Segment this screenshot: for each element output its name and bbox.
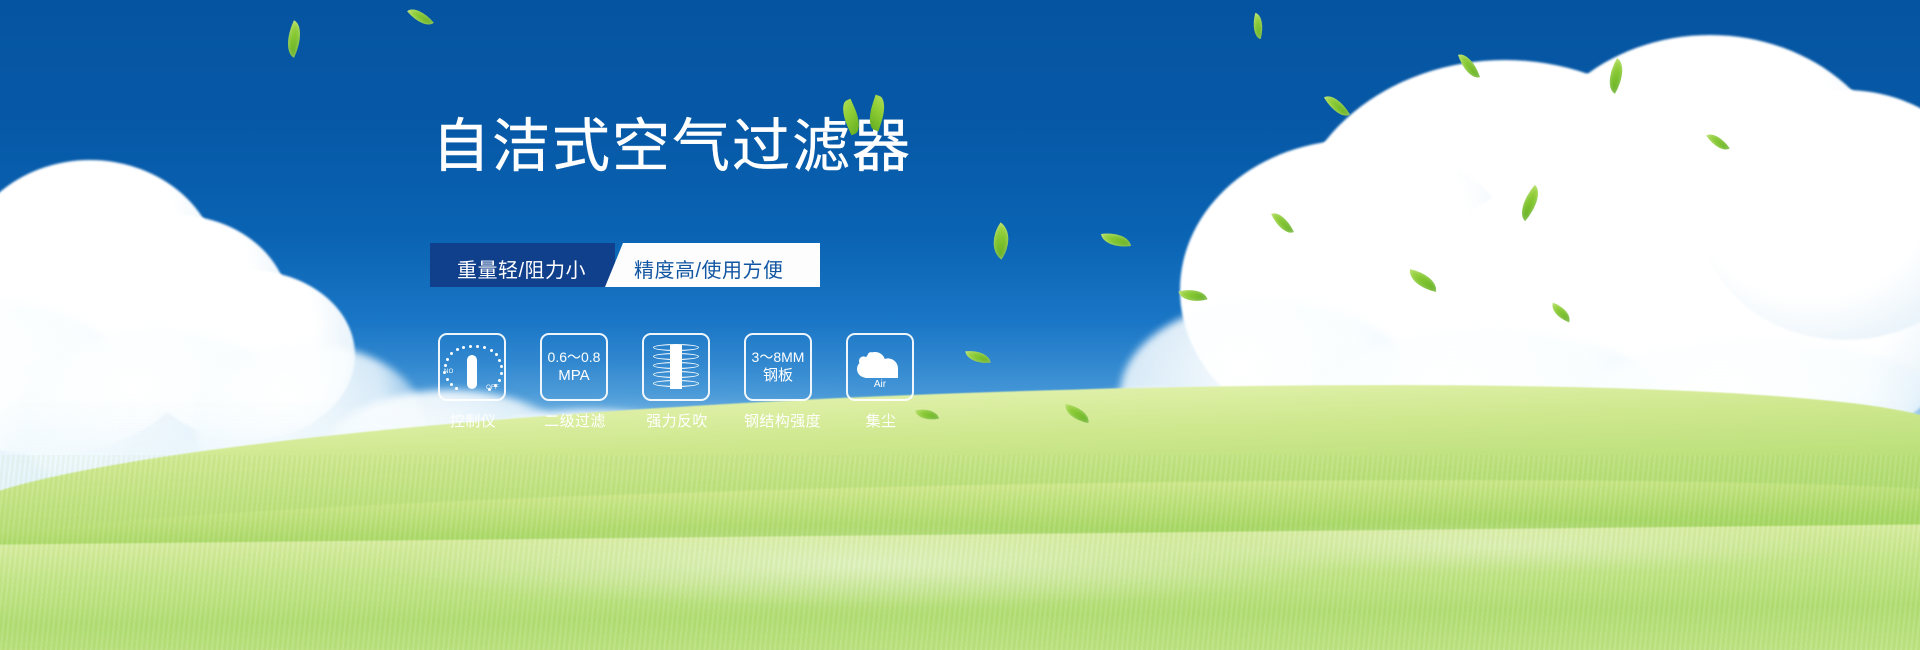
feature-icon-box: NO OFF xyxy=(438,333,506,401)
air-label: Air xyxy=(854,379,906,390)
feature-item-two-stage-filter[interactable]: 0.6～0.8 MPA 二级过滤 xyxy=(540,333,610,431)
feature-caption: 二级过滤 xyxy=(540,410,610,431)
feature-item-strong-backblow[interactable]: 强力反吹 xyxy=(642,333,712,431)
feature-item-control-instrument[interactable]: NO OFF 控制仪 xyxy=(438,333,508,431)
gauge-no-label: NO xyxy=(444,369,454,375)
feature-item-dust-collection[interactable]: Air 集尘 xyxy=(846,333,916,431)
steel-thickness-text: 3～8MM xyxy=(746,349,810,367)
feature-caption: 钢结构强度 xyxy=(744,410,814,431)
feature-caption: 集尘 xyxy=(846,410,916,431)
feature-icon-box xyxy=(642,333,710,401)
feature-icon-box: 0.6～0.8 MPA xyxy=(540,333,608,401)
pressure-range-text: 0.6～0.8 xyxy=(542,349,606,367)
steel-plate-text: 钢板 xyxy=(746,366,810,385)
banner-content: 自洁式空气过滤器 重量轻/阻力小 精度高/使用方便 xyxy=(0,0,1920,650)
subtitle-banner: 重量轻/阻力小 精度高/使用方便 xyxy=(430,243,820,287)
steel-plate-text-icon: 3～8MM 钢板 xyxy=(746,349,810,385)
feature-icon-box: 3～8MM 钢板 xyxy=(744,333,812,401)
feature-icon-box: Air xyxy=(846,333,914,401)
gauge-needle xyxy=(467,355,477,389)
pressure-text-icon: 0.6～0.8 MPA xyxy=(542,349,606,385)
filter-cartridge-icon xyxy=(653,343,699,391)
feature-item-steel-strength[interactable]: 3～8MM 钢板 钢结构强度 xyxy=(744,333,814,431)
sprout-leaf-icon xyxy=(840,92,900,136)
subtitle-left-text: 重量轻/阻力小 xyxy=(457,254,586,283)
subtitle-right-text: 精度高/使用方便 xyxy=(634,254,784,283)
gauge-switch-icon: NO OFF xyxy=(440,335,504,399)
pressure-unit-text: MPA xyxy=(542,366,606,385)
hero-banner: 自洁式空气过滤器 重量轻/阻力小 精度高/使用方便 xyxy=(0,0,1920,650)
gauge-off-label: OFF xyxy=(486,385,499,391)
air-cloud-icon: Air xyxy=(854,346,906,388)
feature-caption: 强力反吹 xyxy=(642,410,712,431)
feature-caption: 控制仪 xyxy=(438,410,508,431)
